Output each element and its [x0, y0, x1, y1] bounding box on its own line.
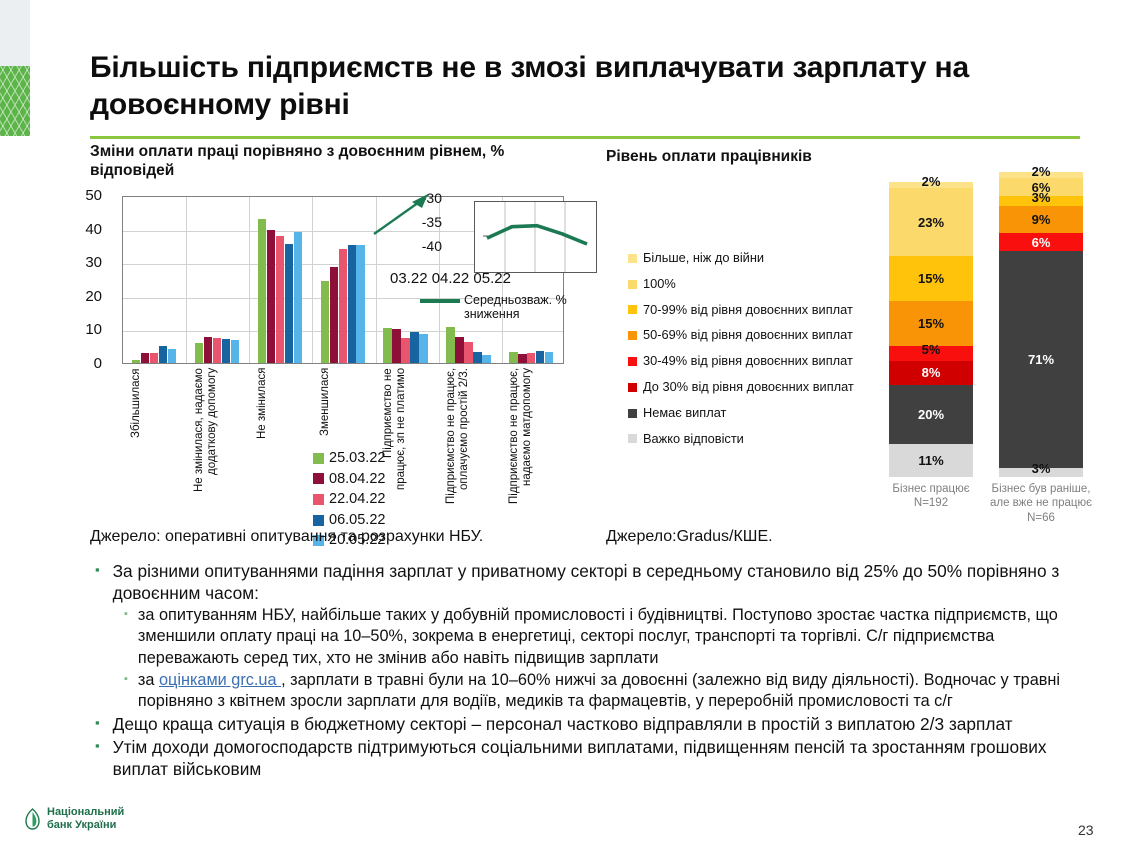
bullet-marker: ▪: [124, 605, 128, 669]
bar: [276, 236, 284, 363]
bar: [536, 351, 544, 363]
stacked-bar-business-working: 2%23%15%15%5%8%20%11%: [889, 182, 973, 477]
legend-item: 30-49% від рівня довоєнних виплат: [628, 355, 854, 368]
legend-label: 25.03.22: [329, 448, 385, 469]
nbu-logo-mark: [24, 808, 41, 830]
bullet-text: За різними опитуваннями падіння зарплат …: [113, 560, 1095, 604]
bar: [482, 355, 490, 363]
bullet-item: ▪Утім доходи домогосподарств підтримують…: [95, 736, 1095, 780]
legend-item: 70-99% від рівня довоєнних виплат: [628, 304, 854, 317]
bar: [141, 353, 149, 363]
bar: [132, 360, 140, 363]
y-tick-label: 10: [68, 321, 102, 338]
bar: [446, 327, 454, 363]
stack-segment: 15%: [889, 301, 973, 346]
legend-swatch: [628, 331, 637, 340]
y-tick-label: 50: [68, 187, 102, 204]
inset-callout-arrow: [372, 192, 432, 236]
stack-segment-label: 2%: [889, 174, 973, 189]
right-stacked-bar-chart: Більше, ніж до війни100%70-99% від рівня…: [606, 170, 1106, 530]
legend-swatch: [628, 305, 637, 314]
bar: [473, 352, 481, 363]
page-title: Більшість підприємств не в змозі виплачу…: [90, 50, 1070, 123]
legend-swatch: [313, 473, 324, 484]
stack-segment-label: 15%: [918, 316, 944, 331]
caption-2-line-1: Бізнес був раніше,: [976, 482, 1106, 496]
stack-segment-label: 6%: [1032, 235, 1051, 250]
bar: [258, 219, 266, 363]
bullet-item: ▪за опитуванням НБУ, найбільше таких у д…: [95, 605, 1095, 669]
legend-swatch: [313, 515, 324, 526]
bar: [231, 340, 239, 363]
legend-label: 22.04.22: [329, 489, 385, 510]
legend-item: 50-69% від рівня довоєнних виплат: [628, 329, 854, 342]
legend-label: 50-69% від рівня довоєнних виплат: [643, 329, 853, 342]
logo-line-2: банк України: [47, 819, 124, 832]
x-axis-label: Підприємство не працює, надаємо матдопом…: [508, 368, 556, 518]
stack-segment: 20%: [889, 385, 973, 445]
stack-segment-label: 23%: [918, 215, 944, 230]
legend-item: Немає виплат: [628, 407, 854, 420]
left-grouped-bar-chart: 01020304050 -30-35-40 03.22 04.22 05.22 …: [90, 190, 580, 535]
legend-swatch: [313, 453, 324, 464]
bullet-marker: ▪: [124, 670, 128, 712]
y-tick-label: 0: [68, 355, 102, 372]
bar: [410, 332, 418, 363]
bar: [204, 337, 212, 363]
bullet-text: за опитуванням НБУ, найбільше таких у до…: [138, 605, 1095, 669]
stack-segment: 23%: [889, 188, 973, 257]
bullet-text: Утім доходи домогосподарств підтримуютьс…: [113, 736, 1095, 780]
stack-segment-label: 3%: [999, 190, 1083, 205]
inset-x-ticks: 03.22 04.22 05.22: [390, 270, 511, 287]
legend-label: 30-49% від рівня довоєнних виплат: [643, 355, 853, 368]
stack-segment: 3%: [999, 196, 1083, 205]
stacked-bar-business-closed: 2%6%3%9%6%71%3%: [999, 172, 1083, 477]
bar: [285, 244, 293, 363]
stack-segment-label: 8%: [922, 365, 941, 380]
bar-group: [123, 197, 186, 363]
inset-y-tick: -40: [396, 234, 442, 258]
stack-segment: 9%: [999, 206, 1083, 233]
legend-label: 70-99% від рівня довоєнних виплат: [643, 304, 853, 317]
caption-2-line-3: N=66: [976, 511, 1106, 525]
legend-item: 100%: [628, 278, 854, 291]
bar: [267, 230, 275, 363]
bar: [339, 249, 347, 363]
x-axis-label: Не змінилася: [256, 368, 304, 440]
bullet-marker: ▪: [95, 736, 100, 780]
bar: [464, 342, 472, 364]
bar: [159, 346, 167, 363]
bar: [330, 267, 338, 363]
inset-legend-swatch: [420, 299, 460, 303]
caption-2-line-2: але вже не працює: [976, 496, 1106, 510]
legend-label: До 30% від рівня довоєнних виплат: [643, 381, 854, 394]
bullet-item: ▪За різними опитуваннями падіння зарплат…: [95, 560, 1095, 604]
y-tick-label: 40: [68, 221, 102, 238]
inset-line-path: [475, 202, 596, 272]
stack-segment-label: 20%: [918, 407, 944, 422]
stack-segment: 6%: [999, 233, 1083, 251]
stack-segment: 5%: [889, 346, 973, 361]
legend-item: Більше, ніж до війни: [628, 252, 854, 265]
bar-group: [186, 197, 249, 363]
bullet-list: ▪За різними опитуваннями падіння зарплат…: [95, 560, 1095, 781]
bullet-text: Дещо краща ситуація в бюджетному секторі…: [113, 713, 1013, 735]
nbu-logo: Національний банк України: [24, 806, 124, 832]
inset-legend-label-2: зниження: [464, 307, 520, 321]
legend-item: Важко відповісти: [628, 433, 854, 446]
bar: [168, 349, 176, 363]
nbu-logo-text: Національний банк України: [47, 806, 124, 832]
bar: [455, 337, 463, 363]
legend-label: Важко відповісти: [643, 433, 744, 446]
inset-legend: Середньозваж. % зниження: [420, 293, 570, 322]
bullet-marker: ▪: [95, 713, 100, 735]
y-tick-label: 30: [68, 254, 102, 271]
bullet-item: ▪за оцінками grc.ua , зарплати в травні …: [95, 670, 1095, 712]
legend-label: Більше, ніж до війни: [643, 252, 764, 265]
bar: [401, 338, 409, 363]
bar: [509, 352, 517, 363]
stacked-bar-caption-2: Бізнес був раніше, але вже не працює N=6…: [976, 482, 1106, 525]
grc-ua-link[interactable]: оцінками grc.ua: [159, 671, 281, 689]
stack-segment-label: 9%: [1032, 212, 1051, 227]
bar: [419, 334, 427, 363]
x-axis-label: Збільшилася: [130, 368, 178, 440]
bar: [356, 245, 364, 363]
stack-segment: 11%: [889, 444, 973, 477]
legend-swatch: [628, 383, 637, 392]
legend-swatch: [628, 409, 637, 418]
right-chart-source: Джерело:Gradus/КШЕ.: [606, 528, 773, 546]
bar-group: [249, 197, 312, 363]
stack-segment-label: 5%: [889, 342, 973, 357]
legend-item: До 30% від рівня довоєнних виплат: [628, 381, 854, 394]
stack-segment: 3%: [999, 468, 1083, 477]
bullet-item: ▪Дещо краща ситуація в бюджетному сектор…: [95, 713, 1095, 735]
stack-segment-label: 3%: [999, 461, 1083, 476]
page-number: 23: [1078, 822, 1094, 838]
bar: [527, 353, 535, 363]
stack-segment-label: 11%: [918, 453, 943, 468]
stack-segment: 71%: [999, 251, 1083, 468]
y-tick-label: 20: [68, 288, 102, 305]
legend-item: 22.04.22: [313, 489, 385, 510]
x-axis-label: Підприємство не працює, зп не платимо: [382, 368, 430, 498]
legend-swatch: [628, 280, 637, 289]
bar: [321, 281, 329, 363]
bar: [545, 352, 553, 363]
bullet-text: за оцінками grc.ua , зарплати в травні б…: [138, 670, 1095, 712]
legend-label: Немає виплат: [643, 407, 726, 420]
stack-segment-label: 15%: [918, 271, 944, 286]
inset-legend-label-1: Середньозваж. %: [464, 293, 567, 307]
x-axis-label: Не змінилася, надаємо додаткову допомогу: [193, 368, 241, 498]
decor-strip-top: [0, 0, 30, 66]
title-divider: [90, 136, 1080, 139]
bar: [150, 353, 158, 363]
bar: [348, 245, 356, 363]
left-chart-source: Джерело: оперативні опитування та розрах…: [90, 528, 483, 546]
inset-line-chart: [474, 201, 597, 273]
bar: [195, 343, 203, 363]
legend-label: 08.04.22: [329, 469, 385, 490]
bar: [392, 329, 400, 363]
logo-line-1: Національний: [47, 806, 124, 819]
legend-swatch: [628, 434, 637, 443]
left-chart-subtitle: Зміни оплати праці порівняно з довоєнним…: [90, 142, 530, 181]
x-axis-label: Підприємство не працює, оплачуємо прості…: [445, 368, 493, 513]
stack-segment-label: 71%: [1028, 352, 1054, 367]
legend-item: 25.03.22: [313, 448, 385, 469]
legend-item: 08.04.22: [313, 469, 385, 490]
stack-segment-label: 2%: [999, 164, 1083, 179]
legend-swatch: [628, 357, 637, 366]
stack-segment: 8%: [889, 361, 973, 385]
bullet-marker: ▪: [95, 560, 100, 604]
bar: [213, 338, 221, 363]
x-axis-label: Зменшилася: [319, 368, 367, 440]
legend-swatch: [313, 494, 324, 505]
bar-group: [312, 197, 375, 363]
decor-strip-green: [0, 66, 30, 136]
stack-segment: 15%: [889, 256, 973, 301]
right-chart-legend: Більше, ніж до війни100%70-99% від рівня…: [628, 252, 854, 458]
right-chart-subtitle: Рівень оплати працівників: [606, 148, 812, 166]
legend-label: 100%: [643, 278, 676, 291]
bar: [383, 328, 391, 363]
bar: [222, 339, 230, 363]
legend-swatch: [628, 254, 637, 263]
bar: [518, 354, 526, 363]
bar: [294, 232, 302, 363]
